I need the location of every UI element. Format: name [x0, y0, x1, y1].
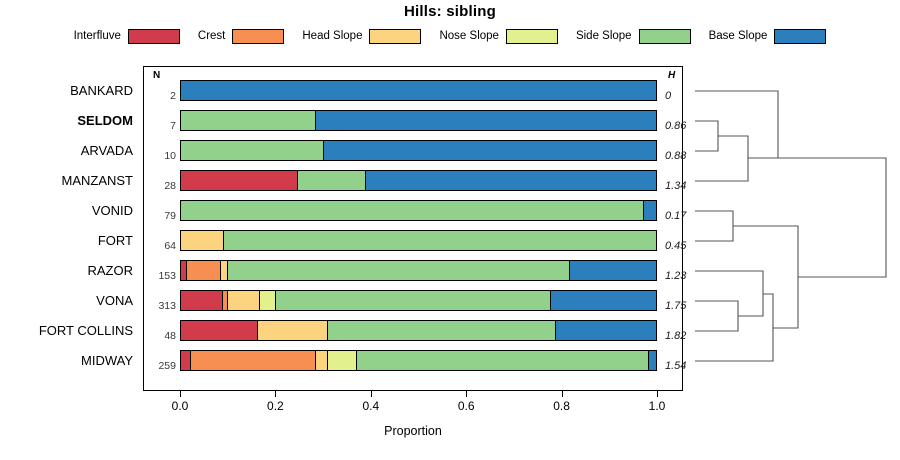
- x-tick: [466, 391, 467, 397]
- x-tick: [657, 391, 658, 397]
- row-label: FORT COLLINS: [0, 316, 133, 346]
- bar-segment: [328, 351, 357, 370]
- legend-label: Side Slope: [576, 30, 632, 42]
- row-label: BANKARD: [0, 76, 133, 106]
- bar-segment: [181, 321, 258, 340]
- legend-swatch: [506, 29, 558, 44]
- row-label: SELDOM: [0, 106, 133, 136]
- row-n-value: 313: [146, 299, 176, 313]
- bar-segment: [644, 201, 656, 220]
- bar-segment: [316, 111, 656, 130]
- row-n-value: 259: [146, 359, 176, 373]
- bar-segment: [187, 261, 221, 280]
- bar-segment: [551, 291, 656, 310]
- bar-segment: [228, 261, 570, 280]
- row-label: FORT: [0, 226, 133, 256]
- x-tick-label: 0.8: [542, 399, 582, 413]
- row-n-value: 79: [146, 209, 176, 223]
- stacked-bar: [180, 80, 657, 101]
- legend-item: Nose Slope: [439, 29, 557, 44]
- row-n-value: 28: [146, 179, 176, 193]
- stacked-bar: [180, 260, 657, 281]
- bar-segment: [181, 351, 191, 370]
- bar-segment: [357, 351, 649, 370]
- x-tick-label: 0.6: [446, 399, 486, 413]
- legend-swatch: [639, 29, 691, 44]
- x-tick-label: 0.2: [255, 399, 295, 413]
- bar-segment: [366, 171, 656, 190]
- x-tick: [562, 391, 563, 397]
- bar-segment: [228, 291, 260, 310]
- stacked-bar: [180, 350, 657, 371]
- row-label: MANZANST: [0, 166, 133, 196]
- bar-segment: [260, 291, 276, 310]
- bar-segment: [181, 231, 224, 250]
- bar-segment: [181, 201, 644, 220]
- bar-segment: [181, 81, 656, 100]
- bar-segment: [181, 141, 324, 160]
- bar-segment: [276, 291, 552, 310]
- x-tick-label: 0.0: [160, 399, 200, 413]
- bar-segment: [556, 321, 656, 340]
- row-n-value: 64: [146, 239, 176, 253]
- stacked-bar: [180, 290, 657, 311]
- row-label: MIDWAY: [0, 346, 133, 376]
- x-tick-label: 1.0: [637, 399, 677, 413]
- legend-label: Interfluve: [74, 30, 121, 42]
- stacked-bar: [180, 140, 657, 161]
- legend-swatch: [774, 29, 826, 44]
- stacked-bar: [180, 230, 657, 251]
- legend-label: Head Slope: [302, 30, 362, 42]
- x-tick-label: 0.4: [351, 399, 391, 413]
- chart-root: Hills: sibling InterfluveCrestHead Slope…: [0, 0, 900, 460]
- bar-segment: [324, 141, 657, 160]
- legend-item: Side Slope: [576, 29, 691, 44]
- row-label: ARVADA: [0, 136, 133, 166]
- stacked-bar: [180, 320, 657, 341]
- x-tick: [275, 391, 276, 397]
- legend: InterfluveCrestHead SlopeNose SlopeSide …: [0, 26, 900, 46]
- bar-segment: [316, 351, 328, 370]
- bar-segment: [191, 351, 316, 370]
- row-n-value: 153: [146, 269, 176, 283]
- bar-segment: [649, 351, 656, 370]
- legend-item: Interfluve: [74, 29, 180, 44]
- legend-swatch: [232, 29, 284, 44]
- row-n-value: 10: [146, 149, 176, 163]
- bar-segment: [221, 261, 228, 280]
- bar-segment: [224, 231, 656, 250]
- legend-swatch: [128, 29, 180, 44]
- bar-segment: [298, 171, 366, 190]
- legend-item: Head Slope: [302, 29, 421, 44]
- dendrogram-svg: [690, 66, 895, 391]
- page-title: Hills: sibling: [0, 3, 900, 20]
- bar-segment: [181, 111, 316, 130]
- legend-label: Base Slope: [709, 30, 768, 42]
- row-label: RAZOR: [0, 256, 133, 286]
- row-n-value: 48: [146, 329, 176, 343]
- row-label: VONID: [0, 196, 133, 226]
- x-tick: [180, 391, 181, 397]
- legend-label: Nose Slope: [439, 30, 498, 42]
- stacked-bar: [180, 200, 657, 221]
- legend-label: Crest: [198, 30, 225, 42]
- bar-segment: [328, 321, 556, 340]
- bar-segment: [181, 171, 298, 190]
- legend-item: Crest: [198, 29, 284, 44]
- bar-segment: [181, 291, 223, 310]
- stacked-bar: [180, 170, 657, 191]
- row-n-value: 7: [146, 119, 176, 133]
- x-axis-title: Proportion: [143, 424, 683, 438]
- row-n-value: 2: [146, 89, 176, 103]
- bar-segment: [258, 321, 328, 340]
- bar-segment: [570, 261, 656, 280]
- dendrogram: [690, 66, 895, 391]
- row-label: VONA: [0, 286, 133, 316]
- legend-item: Base Slope: [709, 29, 827, 44]
- x-tick: [371, 391, 372, 397]
- legend-swatch: [369, 29, 421, 44]
- stacked-bar: [180, 110, 657, 131]
